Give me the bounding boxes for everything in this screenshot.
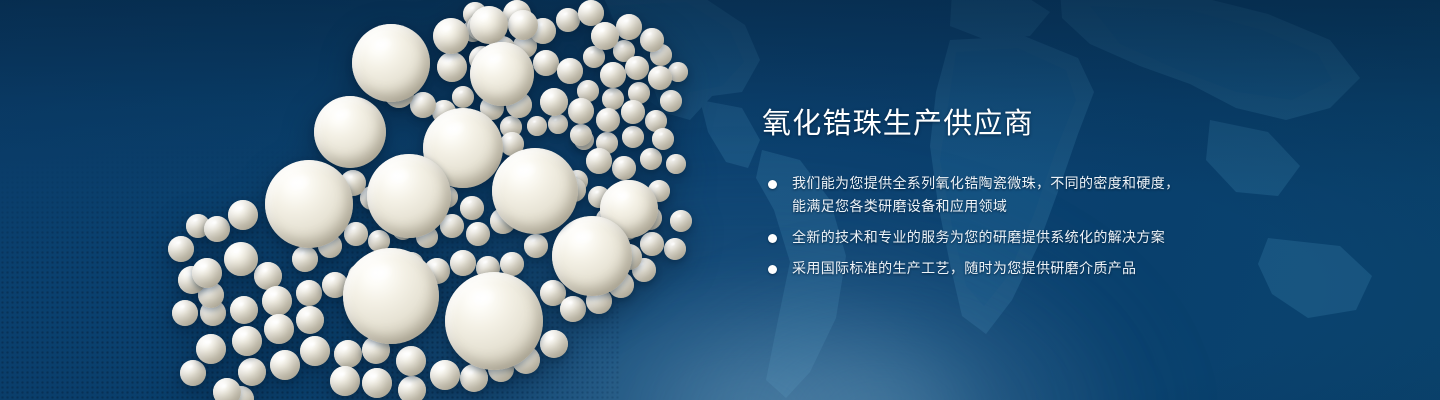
ceramic-bead xyxy=(612,156,636,180)
ceramic-bead xyxy=(445,272,543,370)
ceramic-bead xyxy=(410,92,436,118)
ceramic-bead xyxy=(540,330,568,358)
bullet-dot-icon xyxy=(768,180,777,189)
feature-list-item: 采用国际标准的生产工艺，随时为您提供研磨介质产品 xyxy=(762,257,1322,280)
ceramic-bead xyxy=(292,246,318,272)
ceramic-bead xyxy=(452,86,474,108)
ceramic-bead xyxy=(664,238,686,260)
ceramic-bead xyxy=(398,376,426,400)
ceramic-bead xyxy=(625,56,649,80)
feature-list-item-text: 我们能为您提供全系列氧化锆陶瓷微珠，不同的密度和硬度， xyxy=(792,172,1322,195)
bullet-dot-icon xyxy=(768,234,777,243)
ceramic-bead xyxy=(621,100,645,124)
feature-list-item-text: 全新的技术和专业的服务为您的研磨提供系统化的解决方案 xyxy=(792,226,1322,249)
banner-copy: 氧化锆珠生产供应商 我们能为您提供全系列氧化锆陶瓷微珠，不同的密度和硬度，能满足… xyxy=(762,104,1322,280)
ceramic-bead xyxy=(196,334,226,364)
ceramic-bead xyxy=(230,296,258,324)
bullet-dot-icon xyxy=(768,265,777,274)
feature-list-item: 我们能为您提供全系列氧化锆陶瓷微珠，不同的密度和硬度，能满足您各类研磨设备和应用… xyxy=(762,172,1322,218)
ceramic-bead xyxy=(466,222,490,246)
page-title: 氧化锆珠生产供应商 xyxy=(762,104,1322,144)
ceramic-bead xyxy=(640,232,664,256)
ceramic-bead xyxy=(557,58,583,84)
ceramic-bead xyxy=(430,360,460,390)
ceramic-bead xyxy=(548,114,568,134)
ceramic-bead xyxy=(314,96,386,168)
ceramic-bead xyxy=(666,154,686,174)
ceramic-bead xyxy=(552,216,632,296)
feature-list-item-text: 能满足您各类研磨设备和应用领域 xyxy=(792,195,1322,218)
ceramic-bead xyxy=(204,216,230,242)
ceramic-bead xyxy=(570,124,592,146)
ceramic-bead xyxy=(224,242,258,276)
ceramic-bead xyxy=(300,336,330,366)
ceramic-bead xyxy=(450,250,476,276)
ceramic-bead xyxy=(437,52,467,82)
ceramic-bead xyxy=(334,340,362,368)
ceramic-bead xyxy=(367,154,451,238)
ceramic-bead xyxy=(296,280,322,306)
ceramic-bead xyxy=(270,350,300,380)
ceramic-bead xyxy=(168,236,194,262)
ceramic-bead xyxy=(232,326,262,356)
ceramic-bead xyxy=(265,160,353,248)
ceramic-bead xyxy=(568,98,594,124)
ceramic-bead xyxy=(296,306,324,334)
ceramic-bead xyxy=(180,360,206,386)
ceramic-bead xyxy=(640,28,664,52)
ceramic-bead xyxy=(344,222,368,246)
ceramic-bead xyxy=(492,148,578,234)
ceramic-bead xyxy=(652,128,674,150)
ceramic-bead xyxy=(460,196,484,220)
ceramic-bead xyxy=(524,234,548,258)
ceramic-bead xyxy=(264,314,294,344)
ceramic-bead xyxy=(596,108,620,132)
ceramic-bead xyxy=(192,258,222,288)
hero-banner: 氧化锆珠生产供应商 我们能为您提供全系列氧化锆陶瓷微珠，不同的密度和硬度，能满足… xyxy=(0,0,1440,400)
ceramic-bead xyxy=(640,148,662,170)
ceramic-bead xyxy=(262,286,292,316)
ceramic-bead xyxy=(616,14,642,40)
ceramic-bead xyxy=(228,200,258,230)
ceramic-bead xyxy=(670,210,692,232)
ceramic-bead xyxy=(352,24,430,102)
ceramic-bead xyxy=(527,116,547,136)
ceramic-bead xyxy=(602,88,624,110)
ceramic-bead xyxy=(533,50,559,76)
feature-list-item: 全新的技术和专业的服务为您的研磨提供系统化的解决方案 xyxy=(762,226,1322,249)
ceramic-bead xyxy=(660,90,682,112)
ceramic-bead xyxy=(470,42,534,106)
ceramic-bead xyxy=(433,18,469,54)
feature-list: 我们能为您提供全系列氧化锆陶瓷微珠，不同的密度和硬度，能满足您各类研磨设备和应用… xyxy=(762,172,1322,280)
ceramic-bead xyxy=(470,6,508,44)
ceramic-bead xyxy=(396,346,426,376)
ceramic-bead xyxy=(238,358,266,386)
zirconia-beads-image xyxy=(0,0,760,400)
ceramic-bead xyxy=(362,368,392,398)
ceramic-bead xyxy=(508,10,538,40)
ceramic-bead xyxy=(622,126,644,148)
ceramic-bead xyxy=(343,248,439,344)
ceramic-bead xyxy=(172,300,198,326)
ceramic-bead xyxy=(591,22,619,50)
ceramic-bead xyxy=(330,366,360,396)
feature-list-item-text: 采用国际标准的生产工艺，随时为您提供研磨介质产品 xyxy=(792,257,1322,280)
ceramic-bead xyxy=(648,66,672,90)
ceramic-bead xyxy=(586,148,612,174)
ceramic-bead xyxy=(600,62,626,88)
ceramic-bead xyxy=(213,378,241,400)
ceramic-bead xyxy=(560,296,586,322)
ceramic-bead xyxy=(556,8,580,32)
ceramic-bead xyxy=(540,88,568,116)
